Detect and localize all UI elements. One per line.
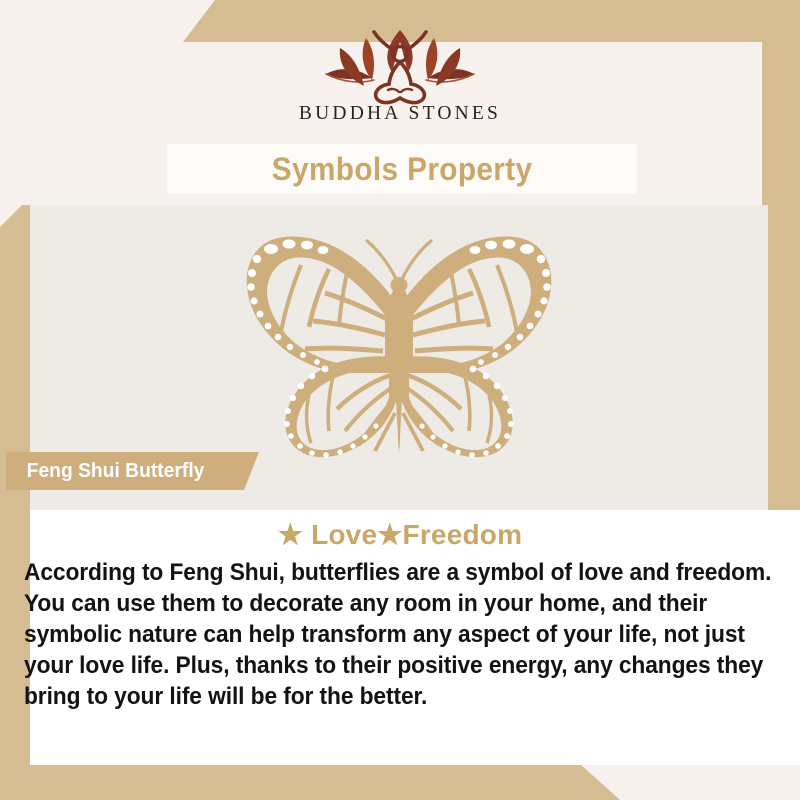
brand-header: BUDDHA STONES bbox=[0, 42, 800, 144]
content-subheading: ★ Love★Freedom bbox=[30, 518, 770, 551]
ribbon-label: Feng Shui Butterfly bbox=[6, 459, 204, 483]
page-title: Symbols Property bbox=[272, 151, 533, 188]
butterfly-icon bbox=[209, 223, 589, 461]
lotus-meditation-icon bbox=[316, 28, 484, 106]
frame-band-bottom bbox=[0, 764, 620, 800]
page-root: BUDDHA STONES Symbols Property bbox=[0, 0, 800, 800]
ribbon-tag: Feng Shui Butterfly bbox=[6, 452, 259, 490]
title-banner: Symbols Property bbox=[167, 144, 637, 194]
content-panel: ★ Love★Freedom According to Feng Shui, b… bbox=[30, 510, 800, 765]
brand-wordmark: BUDDHA STONES bbox=[299, 103, 501, 125]
content-paragraph: According to Feng Shui, butterflies are … bbox=[24, 558, 775, 713]
